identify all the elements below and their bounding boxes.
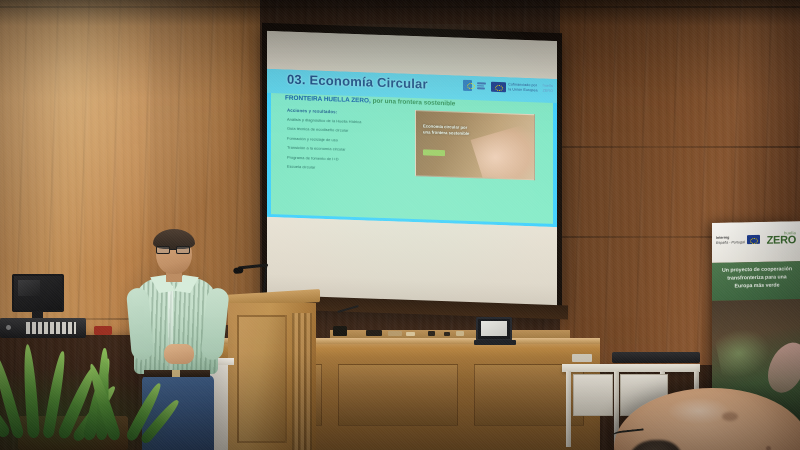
banner-logo-row: Interreg España - Portugal huella ZERO [716,231,796,248]
lectern-microphone [238,261,282,295]
banner-tagline: Un proyecto de cooperación transfronteri… [720,265,794,291]
photo-scene: 03. Economía Circular Cofinanciado porla… [0,0,800,450]
slide-bullet: Escuela circular [287,164,405,173]
av-monitor [12,274,64,320]
desk-object [456,331,464,336]
projection-screen[interactable]: 03. Economía Circular Cofinanciado porla… [267,31,557,309]
belt-buckle [172,370,180,377]
huella-zero-logo-icon: huella ZERO [767,231,796,247]
slide-bullet: Análisis y diagnóstico de la Huella Hídr… [287,117,405,126]
slide-thumbnail-button [423,149,445,156]
interreg-logo-icon [477,80,486,91]
desk-object [406,332,415,336]
laptop-base [474,340,516,345]
table-leg [566,371,571,447]
laptop[interactable] [474,317,516,345]
ceiling-shadow [0,0,800,26]
equipment-table-top [562,364,700,372]
lectern-fluting [292,313,312,450]
slide-bullet: Programa de fomento de I+D [287,154,405,163]
laptop-lid [476,317,512,341]
slide-bullet: Transición a la economía circular [287,145,405,154]
eu-flag-icon [747,235,760,244]
desk-object [444,332,450,336]
slide-thumbnail-image: Economía circular por una frontera soste… [415,110,535,180]
huella-zero-logo-icon: huellaZERO [543,83,553,94]
panel-seam [560,146,800,148]
presenter-hands [164,344,194,364]
hand-illustration [471,123,535,180]
monitor-screen [12,274,64,312]
eu-flag-icon: Cofinanciado porla Unión Europea [491,81,537,94]
desk-object [428,331,435,336]
lectern-body [228,303,316,450]
slide-bullet-list: Acciones y resultados: Análisis y diagnó… [287,108,405,177]
laptop-screen [481,321,507,336]
slide-bullet: Guía técnica de ecodiseño circular [287,126,405,135]
banner-tagline-line: Europa más verde [720,281,794,291]
lectern-panel [237,315,287,443]
slide-bullet: Formación y reciclaje de uso [287,135,405,144]
desk-microphone [333,308,361,338]
desk-object [366,330,382,336]
audience-hair [628,440,682,450]
interreg-logo-icon: Interreg España - Portugal [716,235,760,245]
equipment-dark-case [612,352,700,363]
slide-thumbnail-caption: Economía circular por una frontera soste… [423,123,475,137]
huella-zero-small-icon [463,80,472,91]
glasses-icon [155,246,193,254]
potted-plants [0,330,162,450]
equipment-table [573,374,613,416]
wooden-lectern [228,292,316,450]
banner-interreg-sub: España - Portugal [716,240,745,245]
banner-header: Interreg España - Portugal huella ZERO [712,221,800,263]
presentation-slide: 03. Economía Circular Cofinanciado porla… [267,69,557,227]
fern-illustration [714,323,775,382]
banner-hz-big: ZERO [767,235,796,247]
equipment-small-item [572,354,592,362]
microphone-head [233,267,244,274]
desk-object [388,331,402,336]
